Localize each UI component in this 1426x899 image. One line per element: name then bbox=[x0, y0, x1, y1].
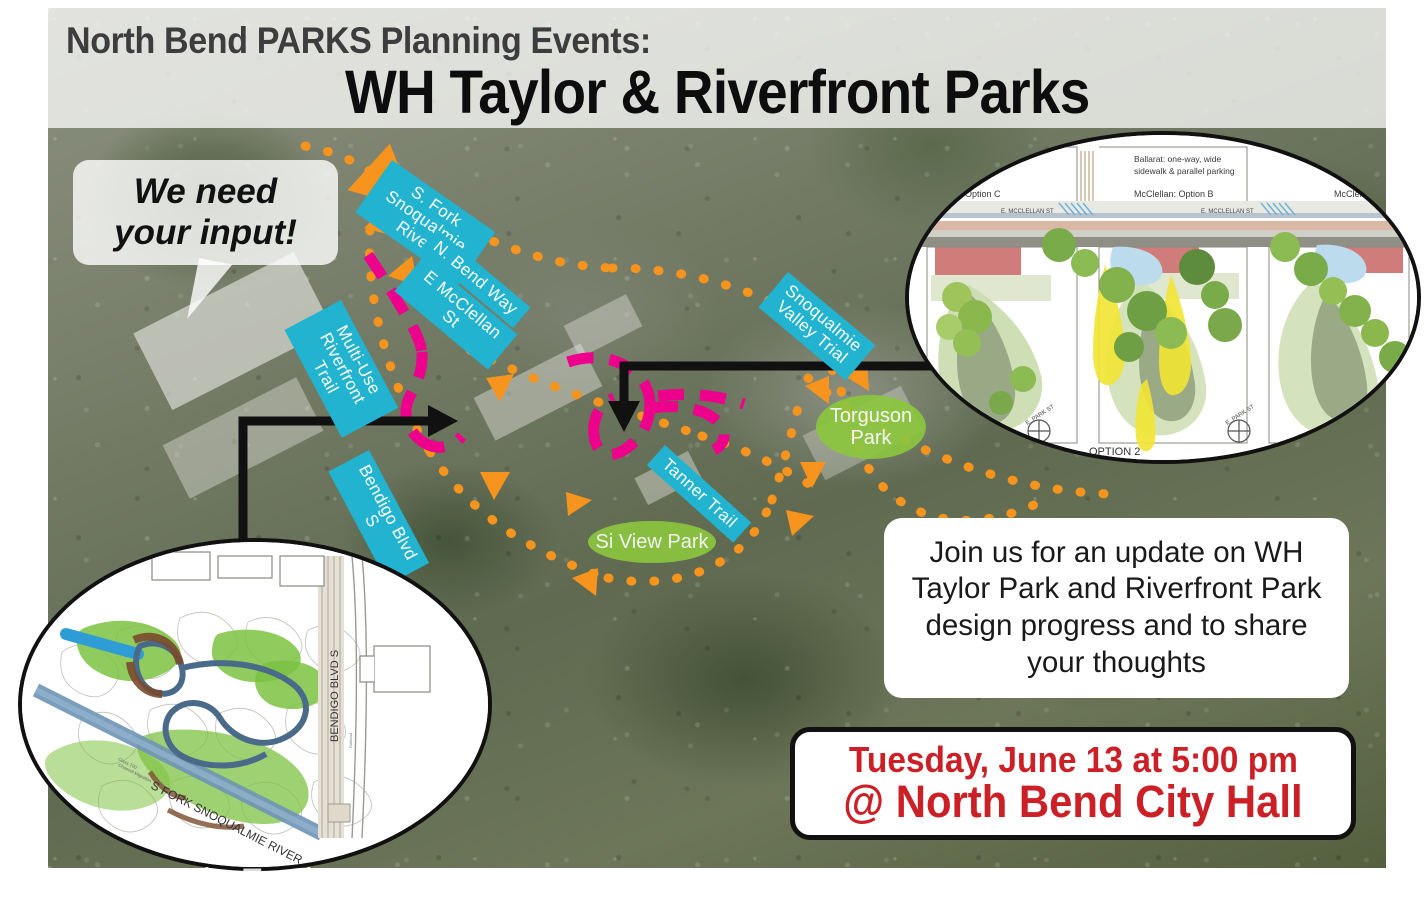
event-description-text: Join us for an update on WH Taylor Park … bbox=[906, 535, 1327, 681]
page-title-line1: North Bend PARKS Planning Events: bbox=[66, 20, 651, 62]
map-label-torguson-park: Torguson Park bbox=[816, 395, 926, 459]
inset-riverfront-concept-plan[interactable]: BENDIGO BLVD S S FORK SNOQUALMIE RIVER C… bbox=[18, 538, 492, 871]
svg-text:sidewalk & parallel parking: sidewalk & parallel parking bbox=[1134, 166, 1235, 176]
svg-text:Ballarat: one-way, wide: Ballarat: one-way, wide bbox=[1134, 154, 1222, 164]
svg-text:Option C: Option C bbox=[965, 189, 1001, 199]
svg-text:BENDIGO BLVD S: BENDIGO BLVD S bbox=[329, 650, 341, 742]
inset-mcclellan-concept-plan[interactable]: Ballarat: one-way, wide sidewalk & paral… bbox=[905, 131, 1421, 464]
svg-text:E. MCCLELLAN ST: E. MCCLELLAN ST bbox=[1201, 209, 1254, 215]
event-datetime-line1: Tuesday, June 13 at 5:00 pm bbox=[848, 742, 1297, 779]
event-location-line2: @ North Bend City Hall bbox=[843, 779, 1302, 825]
speech-bubble: We need your input! bbox=[73, 160, 338, 265]
speech-bubble-text: We need your input! bbox=[73, 160, 338, 265]
svg-text:E. MCCLELLAN ST: E. MCCLELLAN ST bbox=[1001, 209, 1054, 215]
svg-text:OPTION 2: OPTION 2 bbox=[1089, 446, 1140, 458]
event-datetime-banner: Tuesday, June 13 at 5:00 pm @ North Bend… bbox=[790, 727, 1356, 840]
event-description-box: Join us for an update on WH Taylor Park … bbox=[884, 518, 1349, 698]
poster-canvas: North Bend PARKS Planning Events: WH Tay… bbox=[0, 0, 1426, 899]
map-attribution-watermark: Google Earth bbox=[118, 862, 324, 899]
svg-text:McClellan: Option B: McClellan: Option B bbox=[1134, 189, 1214, 199]
map-label-si-view-park: Si View Park bbox=[588, 521, 716, 563]
page-title-line2: WH Taylor & Riverfront Parks bbox=[345, 57, 1090, 127]
svg-text:Railroad: Railroad bbox=[348, 733, 353, 748]
